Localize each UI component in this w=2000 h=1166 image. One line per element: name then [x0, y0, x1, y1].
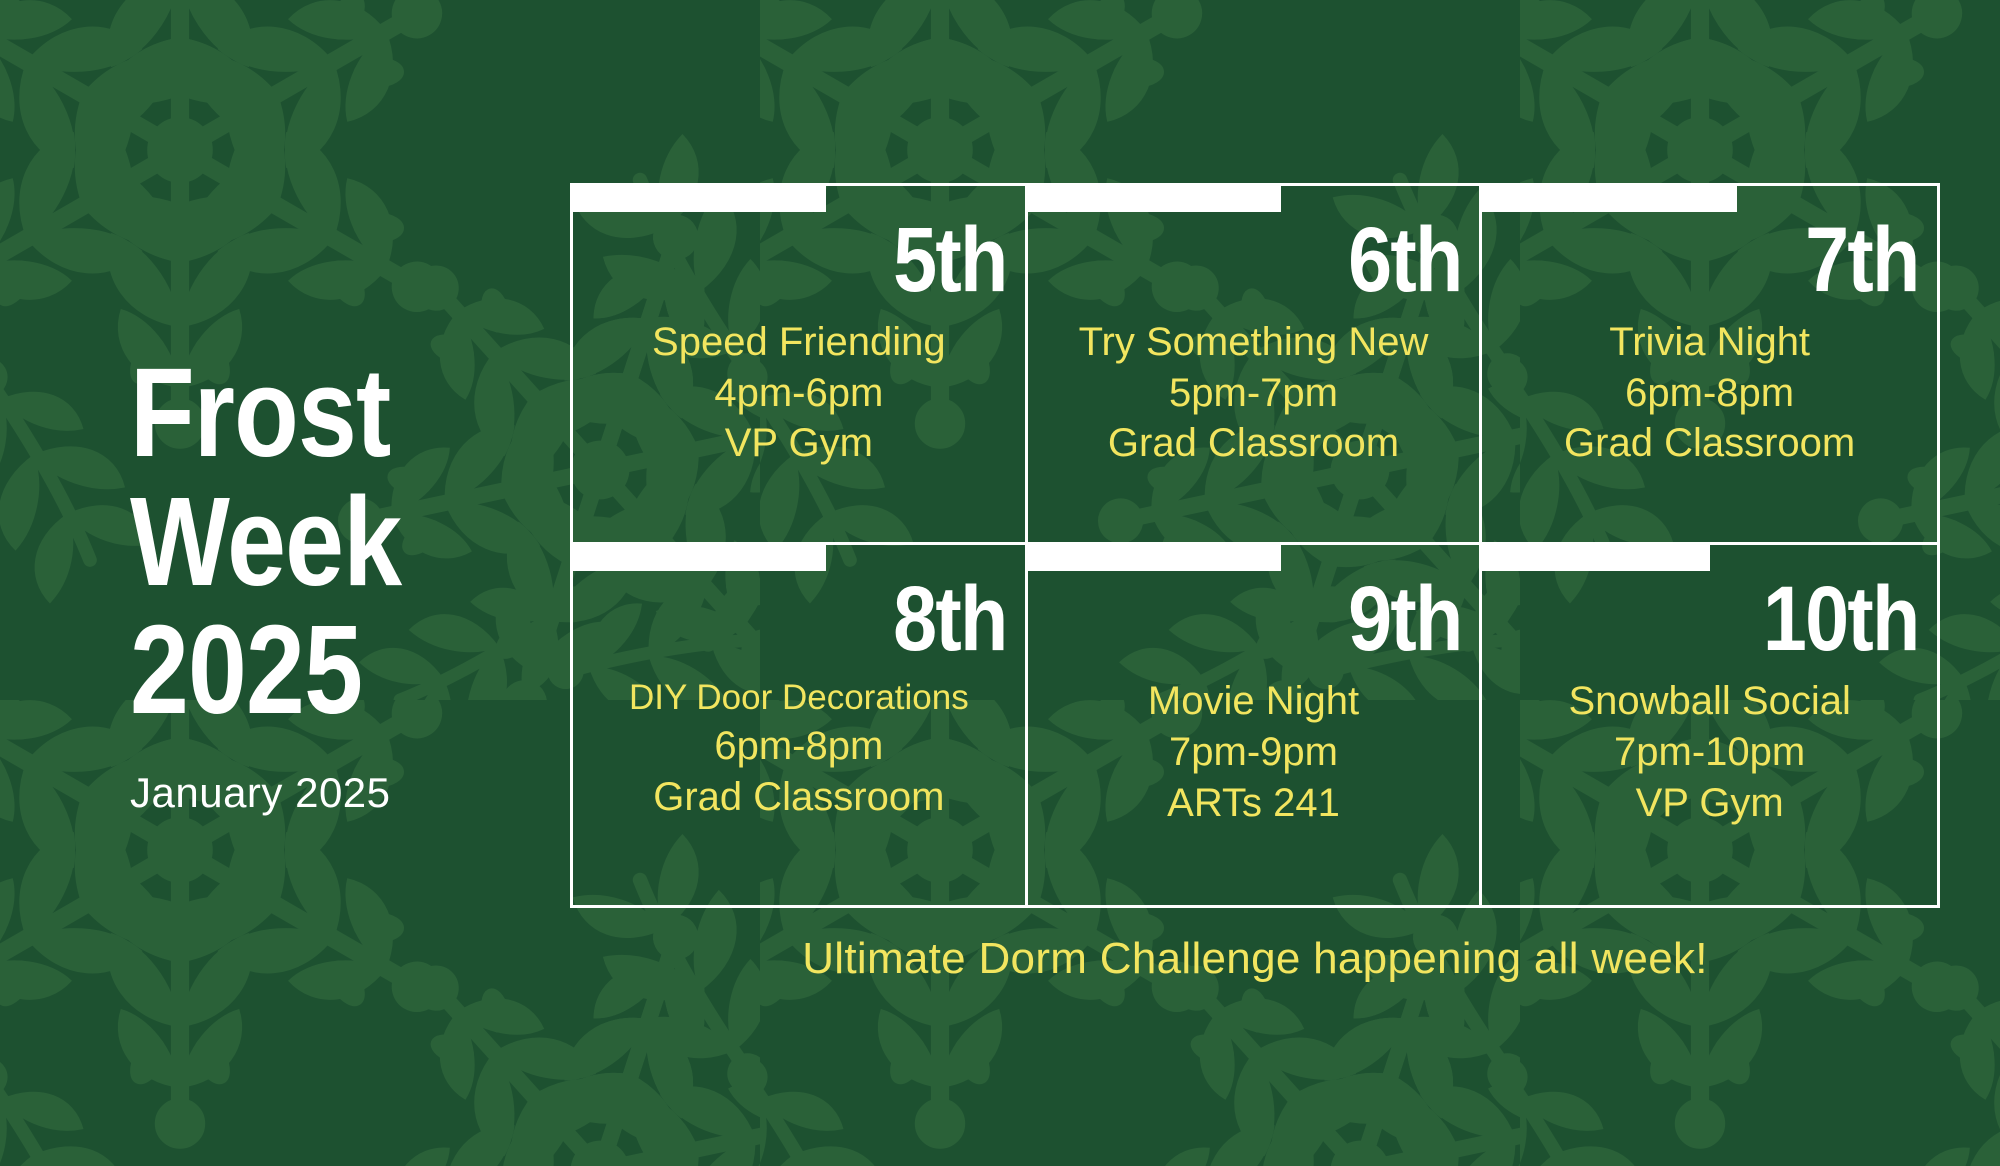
event-title: Trivia Night [1609, 318, 1810, 367]
event-time: 6pm-8pm [714, 722, 883, 771]
title-line-3: 2025 [130, 606, 491, 735]
page-title: Frost Week 2025 [130, 349, 560, 735]
event-date: 9th [1104, 575, 1461, 663]
event-card-7th[interactable]: 7th Trivia Night 6pm-8pm Grad Classroom [1482, 186, 1937, 546]
title-line-1: Frost [130, 349, 491, 478]
title-line-2: Week [130, 478, 491, 607]
event-location: Grad Classroom [1108, 419, 1399, 468]
subtitle-month-year: January 2025 [130, 769, 560, 817]
event-location: VP Gym [1636, 779, 1784, 828]
event-date: 7th [1559, 216, 1919, 304]
poster-root: Frost Week 2025 January 2025 5th Speed F… [0, 0, 2000, 1166]
event-date: 10th [1559, 575, 1919, 663]
event-time: 7pm-10pm [1614, 728, 1805, 777]
event-date: 5th [649, 216, 1006, 304]
event-location: Grad Classroom [1564, 419, 1855, 468]
event-location: ARTs 241 [1167, 779, 1340, 828]
event-title: Snowball Social [1568, 677, 1850, 726]
title-panel: Frost Week 2025 January 2025 [0, 0, 560, 1166]
event-time: 7pm-9pm [1169, 728, 1338, 777]
footer-note: Ultimate Dorm Challenge happening all we… [570, 934, 1940, 984]
event-card-8th[interactable]: 8th DIY Door Decorations 6pm-8pm Grad Cl… [573, 545, 1028, 905]
event-location: VP Gym [725, 419, 873, 468]
event-date: 8th [649, 575, 1006, 663]
event-location: Grad Classroom [653, 773, 944, 822]
calendar-grid: 5th Speed Friending 4pm-6pm VP Gym 6th T… [570, 183, 1940, 908]
event-time: 6pm-8pm [1625, 369, 1794, 418]
event-card-9th[interactable]: 9th Movie Night 7pm-9pm ARTs 241 [1028, 545, 1483, 905]
event-title: DIY Door Decorations [629, 677, 969, 720]
event-time: 4pm-6pm [714, 369, 883, 418]
event-time: 5pm-7pm [1169, 369, 1338, 418]
event-card-10th[interactable]: 10th Snowball Social 7pm-10pm VP Gym [1482, 545, 1937, 905]
event-title: Movie Night [1148, 677, 1359, 726]
event-title: Try Something New [1079, 318, 1429, 367]
event-title: Speed Friending [652, 318, 946, 367]
event-date: 6th [1104, 216, 1461, 304]
event-card-6th[interactable]: 6th Try Something New 5pm-7pm Grad Class… [1028, 186, 1483, 546]
calendar-panel: 5th Speed Friending 4pm-6pm VP Gym 6th T… [560, 0, 2000, 1166]
event-card-5th[interactable]: 5th Speed Friending 4pm-6pm VP Gym [573, 186, 1028, 546]
